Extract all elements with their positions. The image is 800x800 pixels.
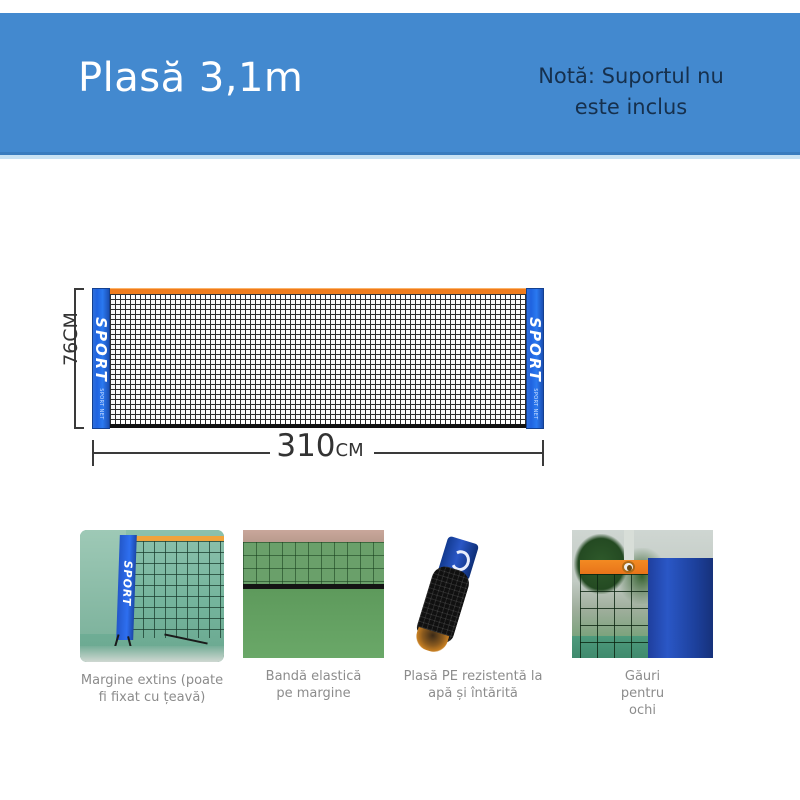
- feature-caption-4: Găuri pentru ochi: [572, 668, 713, 719]
- net-side-band-left: SPORT SPORT NET: [92, 288, 110, 429]
- note-line-1: Notă: Suportul nu: [498, 61, 764, 92]
- elastic-edge-mesh: [243, 542, 384, 584]
- feature-item-2[interactable]: Bandă elastică pe margine: [243, 530, 384, 702]
- note-line-2: este inclus: [498, 92, 764, 123]
- width-value: 310: [276, 428, 335, 464]
- net-mesh: [110, 294, 526, 424]
- caption-4-line-1: Găuri: [572, 668, 713, 685]
- mesh-region: [243, 542, 384, 584]
- caption-3-line-1: Plasă PE rezistentă la apă și întărită: [400, 668, 546, 702]
- net-illustration: SPORT SPORT NET SPORT SPORT NET: [92, 288, 544, 429]
- height-dimension-label: 76CM: [60, 304, 82, 374]
- page-title: Plasă 3,1m: [78, 55, 303, 101]
- feature-item-3[interactable]: Plasă PE rezistentă la apă și întărită: [400, 530, 546, 702]
- feature-gallery: SPORT Margine extins (poate fi fixat cu …: [0, 530, 800, 730]
- caption-1-line-1: Margine extins (poate: [80, 672, 224, 689]
- net-side-band-outdoor: [648, 558, 713, 658]
- feature-item-1[interactable]: SPORT Margine extins (poate fi fixat cu …: [80, 530, 224, 706]
- rolled-net-image: [412, 534, 481, 652]
- width-rule-right: [374, 452, 544, 454]
- feature-thumbnail-4[interactable]: [572, 530, 713, 658]
- width-unit: CM: [336, 440, 364, 461]
- header-banner: Plasă 3,1m Notă: Suportul nu este inclus: [0, 13, 800, 155]
- width-rule-left: [92, 452, 270, 454]
- caption-4-line-3: ochi: [572, 702, 713, 719]
- brand-label-photo: SPORT: [119, 545, 135, 623]
- feature-caption-1: Margine extins (poate fi fixat cu țeavă): [80, 672, 224, 706]
- brand-sublabel-right: SPORT NET: [532, 381, 538, 427]
- net-side-band-right: SPORT SPORT NET: [526, 288, 544, 429]
- leg-3: [164, 633, 207, 644]
- note-text: Notă: Suportul nu este inclus: [498, 61, 764, 123]
- grass-background: [243, 589, 384, 658]
- net-mesh-photo: [132, 541, 224, 638]
- caption-1-line-2: fi fixat cu țeavă): [80, 689, 224, 706]
- feature-item-4[interactable]: Găuri pentru ochi: [572, 530, 713, 719]
- feature-caption-3: Plasă PE rezistentă la apă și întărită: [400, 668, 546, 702]
- feature-thumbnail-3[interactable]: [400, 530, 546, 658]
- brand-sublabel-left: SPORT NET: [98, 381, 104, 427]
- feature-caption-2: Bandă elastică pe margine: [243, 668, 384, 702]
- product-infographic-page: Plasă 3,1m Notă: Suportul nu este inclus…: [0, 0, 800, 800]
- width-dimension-line: 310CM: [92, 440, 544, 476]
- feature-thumbnail-1[interactable]: SPORT: [80, 530, 224, 662]
- court-floor: [80, 646, 224, 662]
- caption-2-line-2: pe margine: [243, 685, 384, 702]
- net-mesh-outdoor: [580, 574, 650, 658]
- caption-2-line-1: Bandă elastică: [243, 668, 384, 685]
- caption-4-line-2: pentru: [572, 685, 713, 702]
- wall-strip: [243, 530, 384, 542]
- width-dimension-label: 310CM: [260, 428, 380, 464]
- feature-thumbnail-2[interactable]: [243, 530, 384, 658]
- grommet-eyelet-icon: [622, 561, 635, 573]
